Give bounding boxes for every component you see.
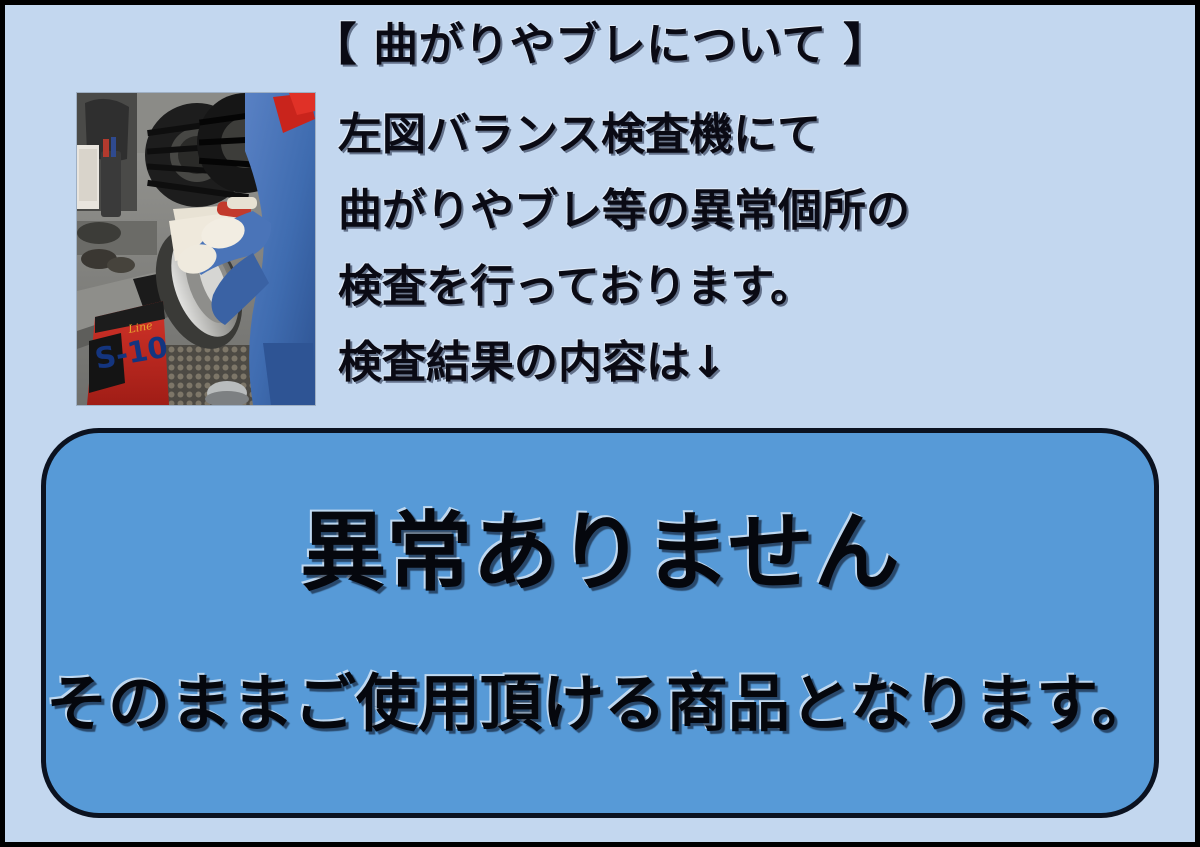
photo-illustration: Line S-10 <box>77 93 315 405</box>
result-subtext: そのままご使用頂ける商品となります。 <box>41 660 1159 748</box>
result-headline: 異常ありません <box>41 498 1159 608</box>
description-line-1: 左図バランス検査機にて <box>338 97 1168 173</box>
banner-panel: 【 曲がりやブレについて 】 <box>5 5 1195 842</box>
description-line-3: 検査を行っております。 <box>338 249 1168 325</box>
description-line-4: 検査結果の内容は↓ <box>338 325 1168 401</box>
tire-balance-machine-photo: Line S-10 <box>77 93 315 405</box>
description-block: 左図バランス検査機にて 曲がりやブレ等の異常個所の 検査を行っております。 検査… <box>338 97 1168 401</box>
page-title: 【 曲がりやブレについて 】 <box>5 15 1195 75</box>
inspection-result-banner: 【 曲がりやブレについて 】 <box>0 0 1200 847</box>
result-box <box>41 428 1159 818</box>
description-line-2: 曲がりやブレ等の異常個所の <box>338 173 1168 249</box>
